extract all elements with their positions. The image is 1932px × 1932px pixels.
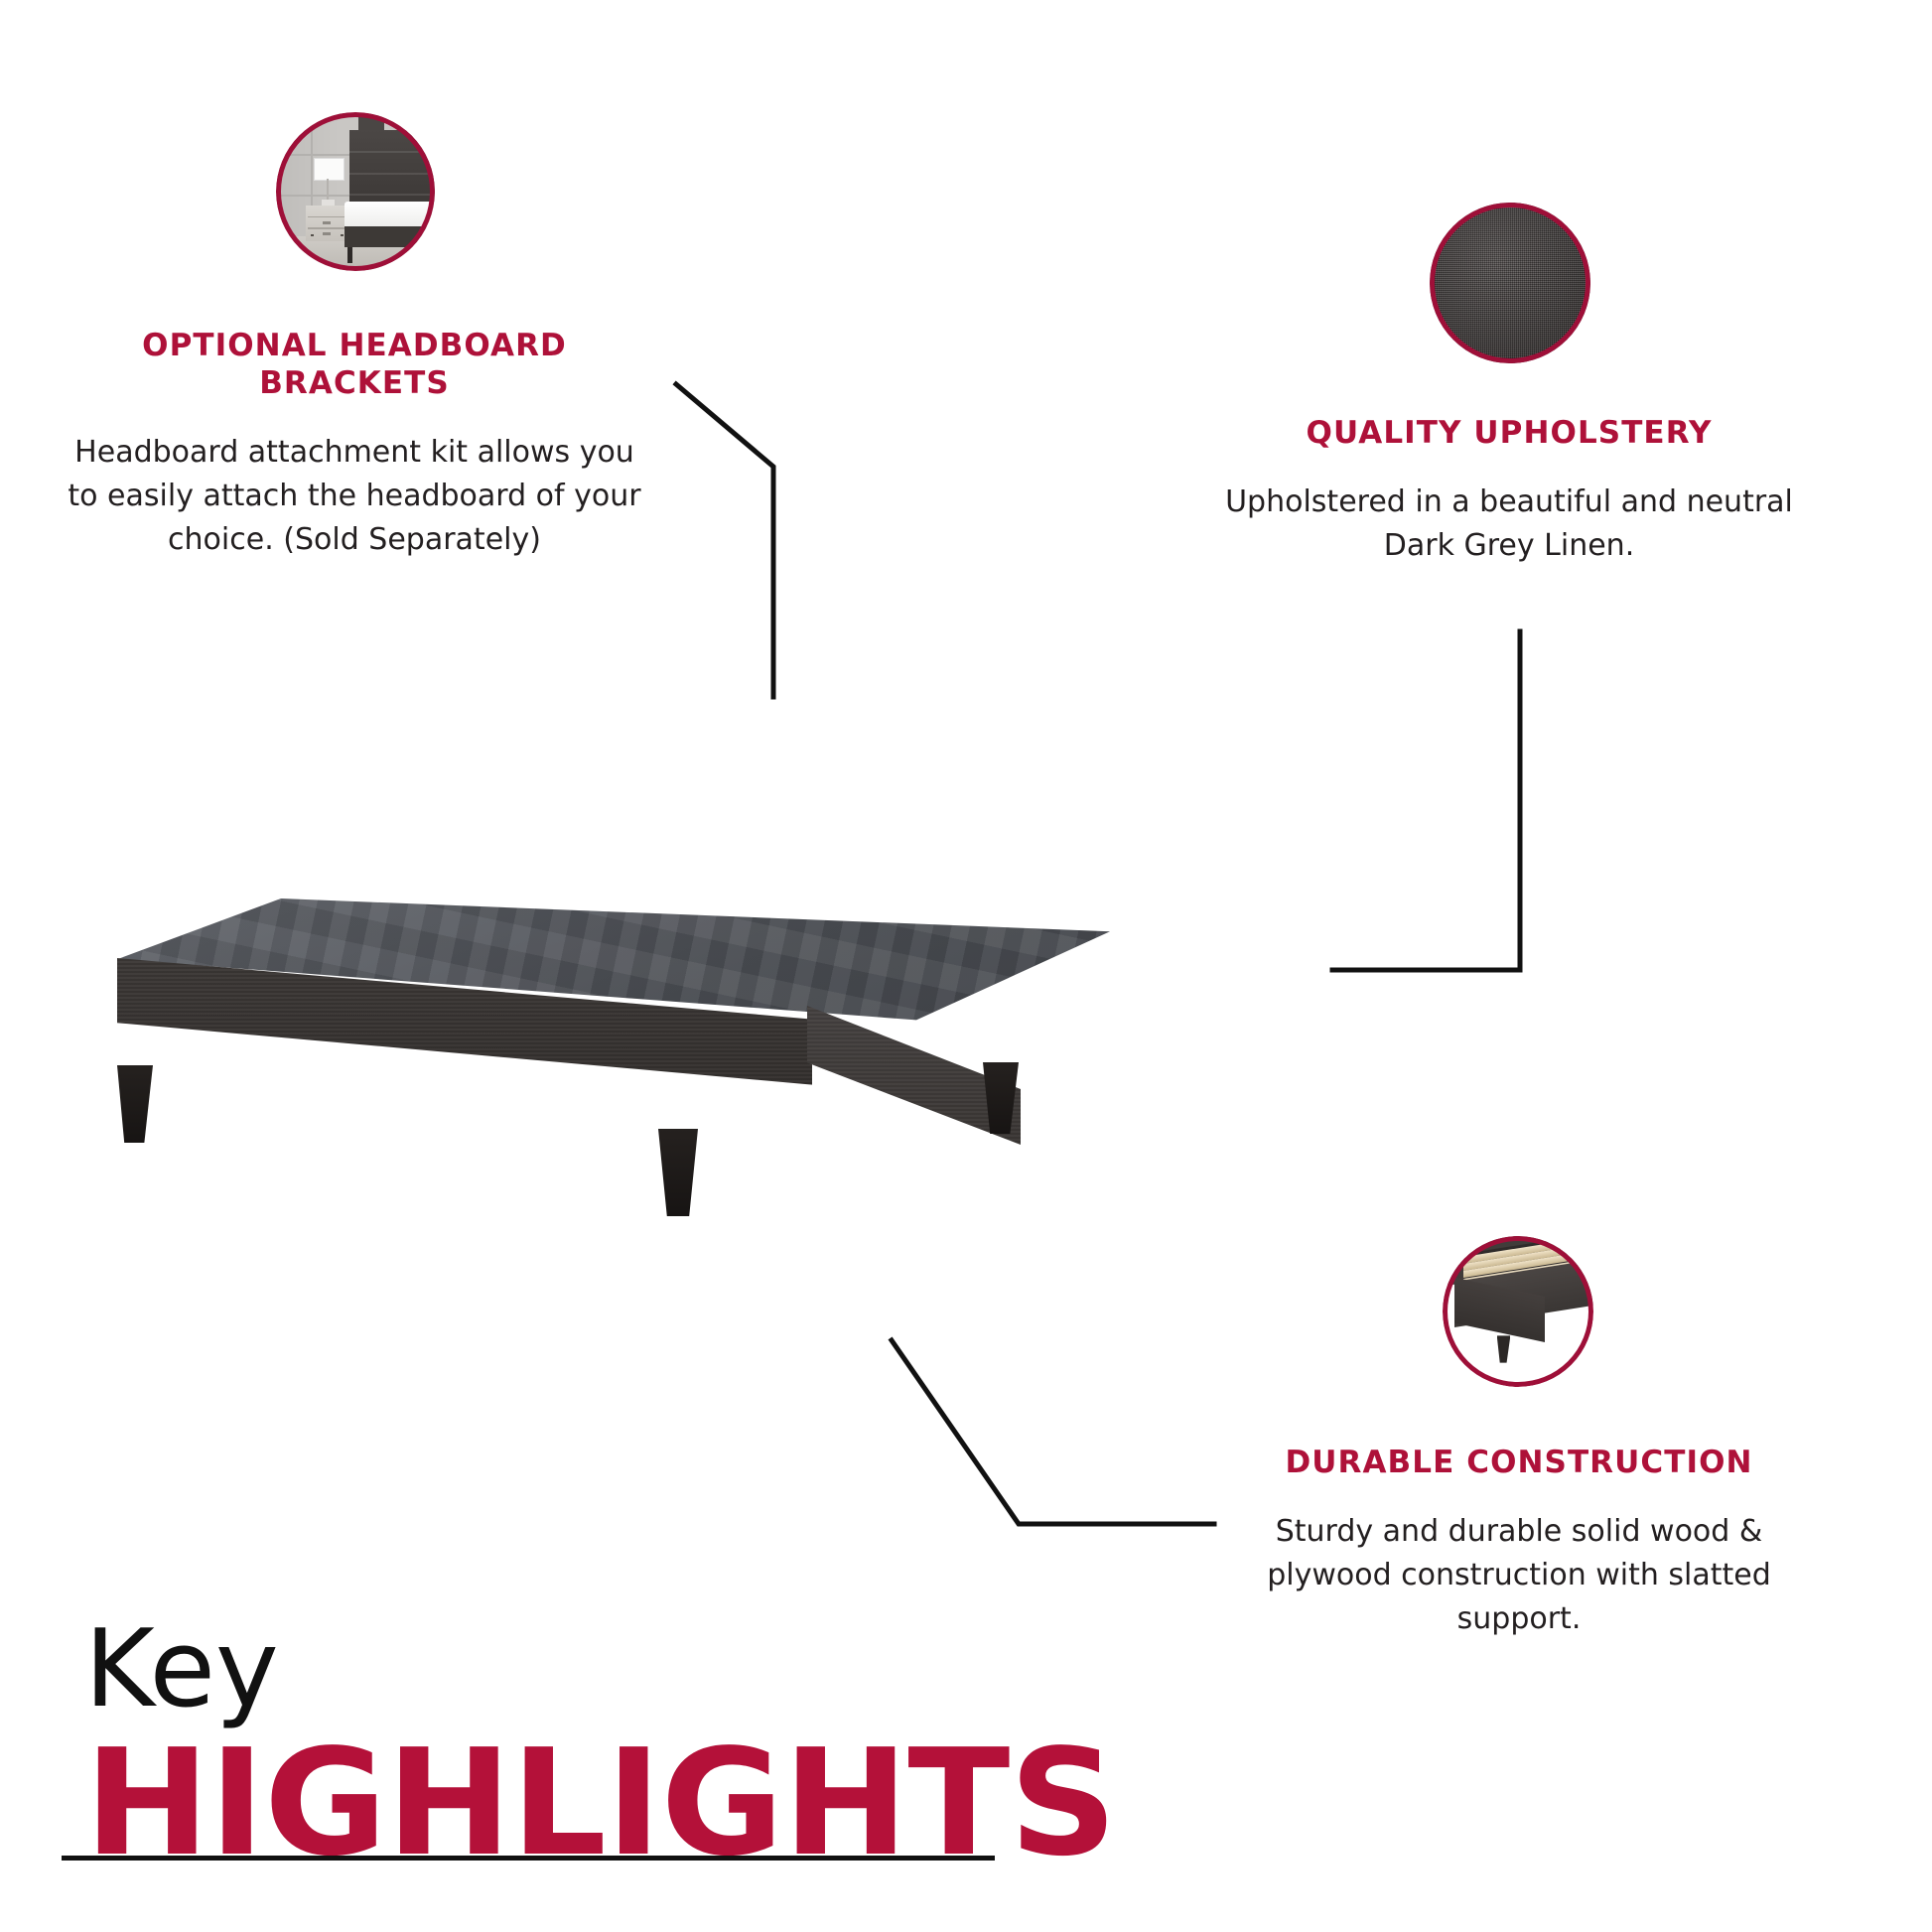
- feature-title: DURABLE CONSTRUCTION: [1231, 1445, 1807, 1482]
- product-leg-front-right: [658, 1129, 698, 1216]
- badge-linen-swatch: [1430, 203, 1590, 363]
- title-divider: [62, 1856, 995, 1861]
- connector-quality-upholstery: [1332, 631, 1520, 970]
- slat-construction-icon: [1443, 1236, 1593, 1387]
- bedroom-scene-icon: [276, 112, 435, 271]
- product-leg-front-left: [117, 1065, 153, 1143]
- title-block: Key HIGHLIGHTS: [84, 1616, 1037, 1876]
- badge-bedroom-scene: [276, 112, 435, 271]
- feature-body: Upholstered in a beautiful and neutral D…: [1221, 481, 1797, 568]
- feature-title: OPTIONAL HEADBOARD BRACKETS: [62, 328, 647, 403]
- page-title-key: Key: [84, 1616, 1037, 1724]
- linen-swatch-icon: [1430, 203, 1590, 363]
- badge-slat-construction: [1443, 1236, 1593, 1387]
- feature-title: QUALITY UPHOLSTERY: [1221, 415, 1797, 453]
- feature-quality-upholstery: QUALITY UPHOLSTERY Upholstered in a beau…: [1221, 415, 1797, 568]
- feature-body: Headboard attachment kit allows you to e…: [62, 431, 647, 562]
- feature-body: Sturdy and durable solid wood & plywood …: [1231, 1510, 1807, 1641]
- feature-durable-construction: DURABLE CONSTRUCTION Sturdy and durable …: [1231, 1445, 1807, 1641]
- page-title-highlights: HIGHLIGHTS: [84, 1729, 1056, 1876]
- feature-optional-headboard-brackets: OPTIONAL HEADBOARD BRACKETS Headboard at…: [62, 328, 647, 562]
- infographic-page: OPTIONAL HEADBOARD BRACKETS Headboard at…: [0, 0, 1932, 1932]
- connector-durable-construction: [892, 1340, 1214, 1524]
- connector-headboard-brackets: [676, 384, 773, 697]
- product-image-bed-base: [117, 898, 1199, 1221]
